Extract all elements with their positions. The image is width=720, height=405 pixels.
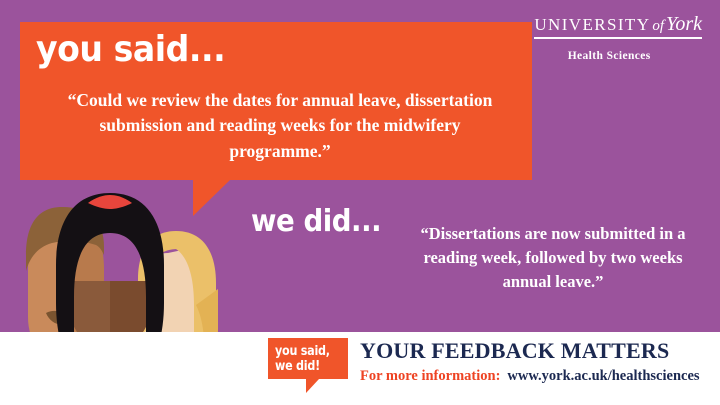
- you-said-bubble: you said... “Could we review the dates f…: [20, 22, 532, 180]
- department-name: Health Sciences: [534, 50, 702, 62]
- university-logo: UNIVERSITYofYork Health Sciences: [534, 14, 702, 62]
- university-word: UNIVERSITY: [534, 15, 650, 34]
- footer-logo-tail-icon: [306, 379, 319, 393]
- poster-canvas: UNIVERSITYofYork Health Sciences you sai…: [0, 0, 720, 405]
- we-did-quote: “Dissertations are now submitted in a re…: [400, 222, 706, 294]
- university-wordmark: UNIVERSITYofYork: [534, 14, 702, 34]
- university-of-word: of: [650, 18, 666, 34]
- footer-logo-line1: you said,: [275, 344, 330, 359]
- you-said-heading: you said...: [36, 30, 225, 70]
- footer-url[interactable]: www.york.ac.uk/healthsciences: [507, 368, 699, 384]
- footer-logo-text: you said, we did!: [275, 344, 330, 375]
- footer-info-label: For more information:: [360, 368, 500, 384]
- footer-logo-line2: we did!: [275, 359, 330, 374]
- we-did-heading: we did...: [251, 204, 381, 239]
- university-york-word: York: [666, 13, 702, 35]
- footer-subline: For more information:www.york.ac.uk/heal…: [360, 368, 700, 385]
- logo-underline: [534, 37, 702, 39]
- you-said-quote: “Could we review the dates for annual le…: [58, 88, 502, 164]
- you-said-we-did-logo: you said, we did!: [268, 338, 348, 379]
- footer-title: YOUR FEEDBACK MATTERS: [360, 338, 669, 364]
